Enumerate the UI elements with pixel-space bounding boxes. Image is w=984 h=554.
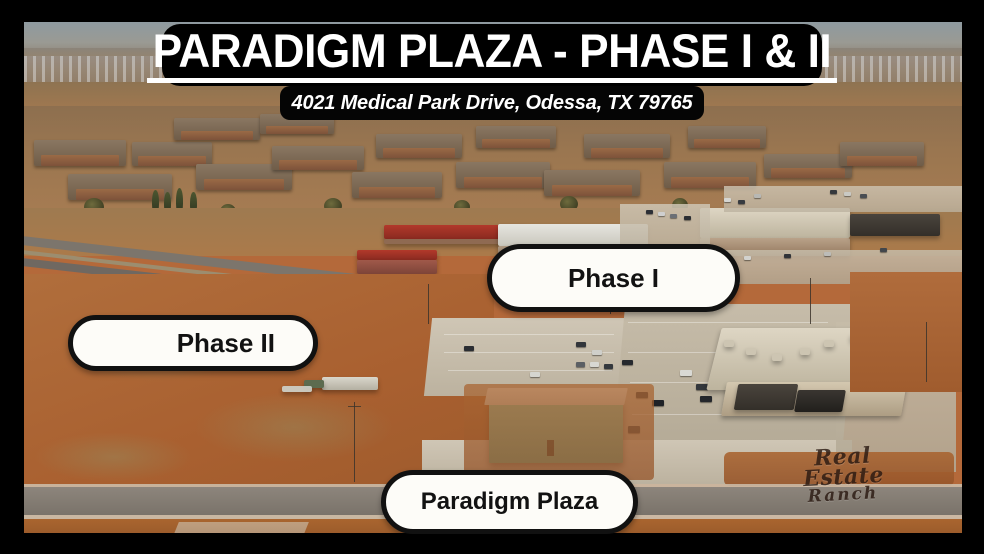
screenshot-root: PARADIGM PLAZA - PHASE I & II 4021 Medic… xyxy=(0,0,984,554)
construction-trailer xyxy=(322,377,378,390)
car xyxy=(844,192,851,196)
parking-stripe xyxy=(444,352,614,353)
page-title: PARADIGM PLAZA - PHASE I & II xyxy=(147,27,837,83)
car xyxy=(530,372,540,377)
car xyxy=(646,210,653,214)
apartment-building xyxy=(584,134,670,158)
car xyxy=(670,214,677,218)
utility-pole xyxy=(926,322,927,382)
address-banner: 4021 Medical Park Drive, Odessa, TX 7976… xyxy=(280,86,704,120)
utility-pole xyxy=(428,284,429,324)
parking-lot-northeast xyxy=(724,186,962,212)
car xyxy=(590,362,599,367)
car xyxy=(680,370,692,376)
car xyxy=(830,190,837,194)
label-pill-phase-two: Phase II xyxy=(68,315,318,371)
apartment-building xyxy=(174,118,260,140)
landscape-island xyxy=(724,452,954,486)
retail-building-2 xyxy=(850,214,940,236)
apartment-building xyxy=(764,154,852,178)
apartment-building xyxy=(376,134,462,158)
retail-storefront-signage xyxy=(734,384,799,410)
car xyxy=(592,350,602,355)
apartment-building xyxy=(664,162,756,188)
label-pill-phase-one: Phase I xyxy=(487,244,740,312)
convenience-store xyxy=(357,260,437,274)
apartment-building xyxy=(688,126,766,148)
label-pill-paradigm-plaza: Paradigm Plaza xyxy=(381,470,638,534)
car xyxy=(744,256,751,260)
rooftop-hvac-unit xyxy=(724,340,734,347)
rooftop-hvac-unit xyxy=(824,340,834,347)
car xyxy=(738,200,745,204)
apartment-building xyxy=(456,162,550,188)
parking-stripe xyxy=(444,334,614,335)
apartment-building xyxy=(272,146,364,170)
scrub-patch xyxy=(34,432,194,482)
car xyxy=(700,396,712,402)
construction-pad-dirt xyxy=(464,384,654,480)
car xyxy=(754,194,761,198)
apartment-building xyxy=(476,126,556,148)
apartment-building xyxy=(544,170,640,196)
retail-storefront-glass xyxy=(794,390,846,412)
car xyxy=(622,360,633,365)
driveway-apron xyxy=(169,522,309,533)
retail-building-roof xyxy=(700,208,850,238)
parking-stripe xyxy=(448,370,612,371)
car xyxy=(576,342,586,347)
apartment-building xyxy=(132,142,212,166)
apartment-building xyxy=(34,140,126,166)
utility-pole xyxy=(354,402,355,482)
utility-pole-crossarm xyxy=(348,406,361,407)
car xyxy=(784,254,791,258)
car xyxy=(658,212,665,216)
label-phase-one-text: Phase I xyxy=(568,263,659,294)
car xyxy=(724,198,731,202)
scrub-patch xyxy=(194,392,394,462)
label-phase-two-text: Phase II xyxy=(177,328,275,359)
car xyxy=(684,216,691,220)
apartment-building xyxy=(352,172,442,198)
parking-stripe xyxy=(628,322,828,323)
car xyxy=(464,346,474,351)
apartment-building xyxy=(840,142,924,166)
rooftop-hvac-unit xyxy=(772,354,782,361)
rooftop-hvac-unit xyxy=(800,348,810,355)
car xyxy=(824,252,831,256)
label-paradigm-plaza-text: Paradigm Plaza xyxy=(421,488,598,516)
dirt-lot-east xyxy=(850,272,962,392)
utility-pole xyxy=(810,278,811,324)
construction-materials xyxy=(282,386,312,392)
car xyxy=(860,194,867,198)
car xyxy=(576,362,585,367)
car xyxy=(880,248,887,252)
rooftop-hvac-unit xyxy=(746,348,756,355)
title-banner: PARADIGM PLAZA - PHASE I & II xyxy=(162,24,822,86)
car xyxy=(604,364,613,369)
address-text: 4021 Medical Park Drive, Odessa, TX 7976… xyxy=(292,92,693,115)
convenience-store-roof xyxy=(357,250,437,260)
